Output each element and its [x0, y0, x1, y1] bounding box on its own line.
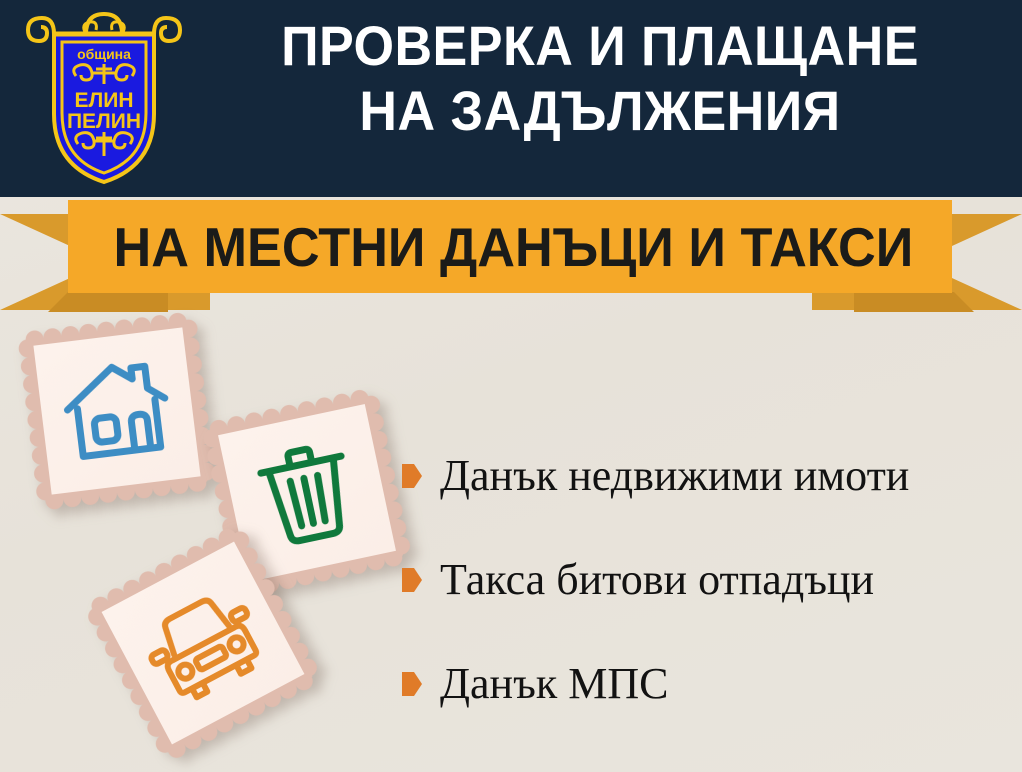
bullet-arrow-icon	[402, 568, 422, 592]
bullet-arrow-icon	[402, 464, 422, 488]
list-item[interactable]: Данък недвижими имоти	[402, 424, 1002, 528]
ribbon-label: НА МЕСТНИ ДАНЪЦИ И ТАКСИ	[94, 200, 934, 293]
house-icon	[53, 347, 180, 474]
coat-of-arms-icon: община ЕЛИН ПЕЛИН	[24, 8, 184, 190]
list-item[interactable]: Данък МПС	[402, 632, 1002, 736]
bullet-arrow-icon	[402, 672, 422, 696]
tax-type-list: Данък недвижими имоти Такса битови отпад…	[402, 424, 1002, 736]
crest-municipality-label: община	[77, 46, 131, 62]
page-title: ПРОВЕРКА И ПЛАЩАНЕ НА ЗАДЪЛЖЕНИЯ	[219, 14, 982, 144]
list-item[interactable]: Такса битови отпадъци	[402, 528, 1002, 632]
trash-bin-icon	[239, 425, 374, 560]
crest-name-line-1: ЕЛИН	[74, 89, 133, 112]
list-item-label: Данък недвижими имоти	[440, 454, 909, 498]
crest-name-line-2: ПЕЛИН	[67, 110, 141, 133]
ribbon-fold-shadow-right	[854, 292, 974, 312]
poster-canvas: ПРОВЕРКА И ПЛАЩАНЕ НА ЗАДЪЛЖЕНИЯ	[0, 0, 1022, 772]
ribbon-fold-shadow-left	[48, 292, 168, 312]
list-item-label: Такса битови отпадъци	[440, 558, 874, 602]
list-item-label: Данък МПС	[440, 662, 668, 706]
stamp-house	[11, 305, 223, 517]
